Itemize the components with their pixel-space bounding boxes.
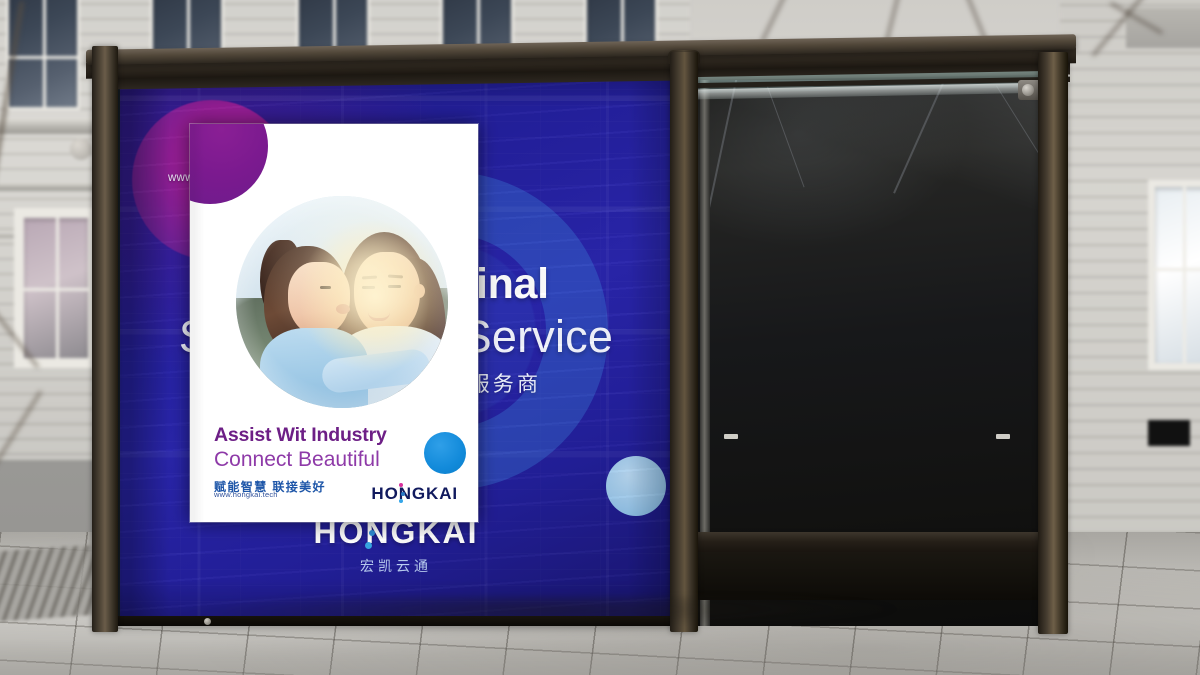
shelter-post-middle [670, 52, 698, 632]
poster-clip-icon [996, 434, 1010, 439]
foreground-blur [0, 640, 1200, 675]
shelter-bench-front [692, 552, 1040, 600]
logo-o-inner-dot-icon [401, 492, 405, 496]
poster-clip-icon [724, 434, 738, 439]
poster-logo: HONGKAI [371, 484, 458, 504]
blue-dot-graphic [424, 432, 466, 474]
shelter-post-right [1038, 52, 1068, 634]
poster-content: Assist Wit Industry Connect Beautiful 赋能… [190, 124, 478, 522]
scene-root: www.hongkai.tech Smart Terminal Supply C… [0, 0, 1200, 675]
poster-url: www.hongkai.tech [214, 490, 278, 499]
logo-dot-bottom-icon [399, 499, 403, 503]
poster-headline: Assist Wit Industry [214, 424, 387, 447]
roof-bolt-icon [1022, 84, 1034, 96]
light-blue-dot-graphic [606, 456, 666, 516]
poster-photo-circle [236, 196, 448, 408]
purple-circle-graphic [190, 124, 268, 204]
hongkai-wordmark-cn: 宏凯云通 [120, 556, 672, 576]
logo-o-inner-dot-icon [369, 530, 375, 536]
logo-dot-bottom-icon [365, 542, 372, 549]
poster-subheadline: Connect Beautiful [214, 448, 380, 472]
right-poster-panel[interactable]: Assist Wit Industry Connect Beautiful 赋能… [190, 124, 478, 522]
logo-dot-top-icon [399, 483, 403, 487]
billboard-logo: HONGKAI 宏凯云通 [120, 514, 672, 576]
bus-shelter: www.hongkai.tech Smart Terminal Supply C… [78, 22, 1088, 632]
shelter-ground-shadow [60, 596, 1020, 640]
shelter-post-left [92, 46, 118, 632]
